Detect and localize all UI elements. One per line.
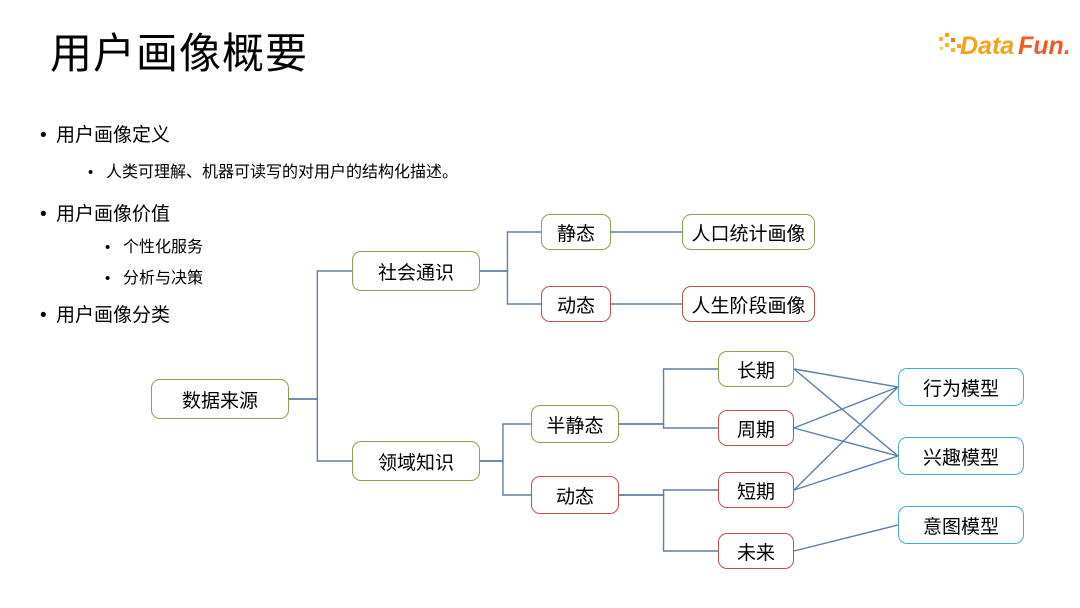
tree-node-static1[interactable]: 静态 [541,214,611,250]
tree-node-social[interactable]: 社会通识 [352,251,480,291]
slide-canvas: Data Fun. 用户画像概要 • 用户画像定义 • 人类可理解、机器可读写的… [0,0,1080,608]
connector-shortterm-to-behavior [794,387,898,490]
tree-node-longterm[interactable]: 长期 [718,351,794,387]
tree-node-label: 长期 [737,356,775,383]
connector-root-to-domain [289,399,352,461]
tree-node-label: 未来 [737,538,775,565]
tree-node-dynamic2[interactable]: 动态 [531,476,619,514]
tree-node-label: 静态 [557,219,595,246]
connector-social-to-static1 [480,232,541,271]
tree-node-label: 半静态 [546,411,603,438]
tree-node-label: 兴趣模型 [923,443,999,470]
tree-node-label: 动态 [556,482,594,509]
tree-node-label: 意图模型 [923,512,999,539]
tree-node-label: 领域知识 [378,448,454,475]
tree-node-demo[interactable]: 人口统计画像 [682,214,815,250]
tree-node-interest[interactable]: 兴趣模型 [898,437,1024,475]
classification-tree-diagram: 数据来源社会通识领域知识静态动态半静态动态人口统计画像人生阶段画像长期周期短期未… [0,0,1080,608]
tree-node-lifestage[interactable]: 人生阶段画像 [682,286,815,322]
connector-longterm-to-behavior [794,369,898,387]
tree-node-label: 社会通识 [378,258,454,285]
tree-node-label: 行为模型 [923,374,999,401]
connector-cyclic-to-behavior [794,387,898,428]
connector-cyclic-to-interest [794,428,898,456]
connector-dynamic2-to-future [619,495,718,551]
connector-domain-to-semistatic [480,424,531,461]
connector-semistatic-to-longterm [619,369,718,424]
tree-node-label: 数据来源 [182,386,258,413]
connector-shortterm-to-interest [794,456,898,490]
tree-node-root[interactable]: 数据来源 [151,379,289,419]
tree-node-dynamic1[interactable]: 动态 [541,286,611,322]
tree-node-future[interactable]: 未来 [718,533,794,569]
tree-node-domain[interactable]: 领域知识 [352,441,480,481]
tree-node-semistatic[interactable]: 半静态 [531,405,619,443]
connector-domain-to-dynamic2 [480,461,531,495]
tree-node-label: 周期 [737,415,775,442]
tree-node-label: 动态 [557,291,595,318]
tree-node-label: 人生阶段画像 [691,291,805,318]
connector-semistatic-to-cyclic [619,424,718,428]
tree-node-label: 短期 [737,477,775,504]
tree-node-intent[interactable]: 意图模型 [898,506,1024,544]
connector-social-to-dynamic1 [480,271,541,304]
connector-longterm-to-interest [794,369,898,456]
connector-root-to-social [289,271,352,399]
tree-node-cyclic[interactable]: 周期 [718,410,794,446]
tree-node-shortterm[interactable]: 短期 [718,472,794,508]
connector-dynamic2-to-shortterm [619,490,718,495]
tree-node-behavior[interactable]: 行为模型 [898,368,1024,406]
tree-node-label: 人口统计画像 [691,219,805,246]
connector-future-to-intent [794,525,898,551]
